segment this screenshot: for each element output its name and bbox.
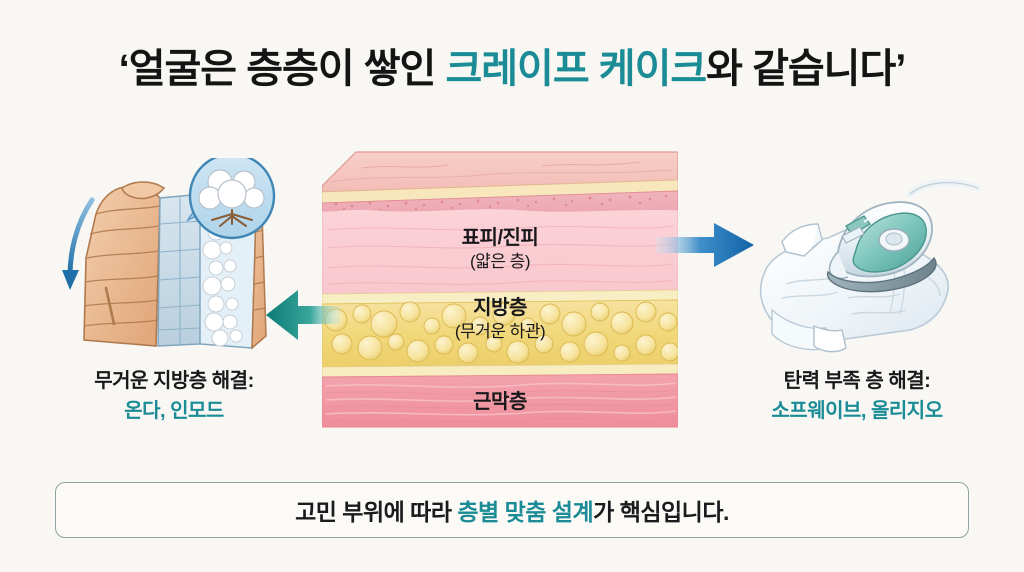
steam-iron-shirt-icon bbox=[742, 178, 1000, 368]
title-lead: ‘얼굴은 층층이 쌓인 bbox=[119, 47, 446, 91]
skin-layers-illustration bbox=[322, 148, 678, 428]
footer-text: 고민 부위에 따라 층별 맞춤 설계가 핵심입니다. bbox=[295, 493, 729, 527]
caption-left-sub: 온다, 인모드 bbox=[38, 398, 310, 424]
caption-left: 무거운 지방층 해결: 온다, 인모드 bbox=[38, 368, 310, 424]
footer-accent: 층별 맞춤 설계 bbox=[457, 499, 593, 525]
caption-right-head: 탄력 부족 층 해결: bbox=[716, 368, 998, 394]
caption-right-sub: 소프웨이브, 올리지오 bbox=[716, 398, 998, 424]
page-title: ‘얼굴은 층층이 쌓인 크레이프 케이크와 같습니다’ bbox=[0, 36, 1024, 94]
puffer-jacket-icon bbox=[60, 158, 300, 366]
footer-callout-box: 고민 부위에 따라 층별 맞춤 설계가 핵심입니다. bbox=[55, 482, 969, 538]
caption-right: 탄력 부족 층 해결: 소프웨이브, 올리지오 bbox=[716, 368, 998, 424]
caption-left-head: 무거운 지방층 해결: bbox=[38, 368, 310, 394]
footer-tail: 가 핵심입니다. bbox=[593, 499, 729, 525]
title-tail: 와 같습니다’ bbox=[706, 47, 905, 91]
infographic-canvas: ‘얼굴은 층층이 쌓인 크레이프 케이크와 같습니다’ bbox=[0, 0, 1024, 572]
title-accent: 크레이프 케이크 bbox=[445, 47, 706, 91]
footer-lead: 고민 부위에 따라 bbox=[295, 499, 457, 525]
skin-cross-section-diagram: 표피/진피 (얇은 층) 지방층 (무거운 하관) 근막층 bbox=[322, 148, 678, 428]
arrow-right-icon bbox=[656, 222, 756, 268]
